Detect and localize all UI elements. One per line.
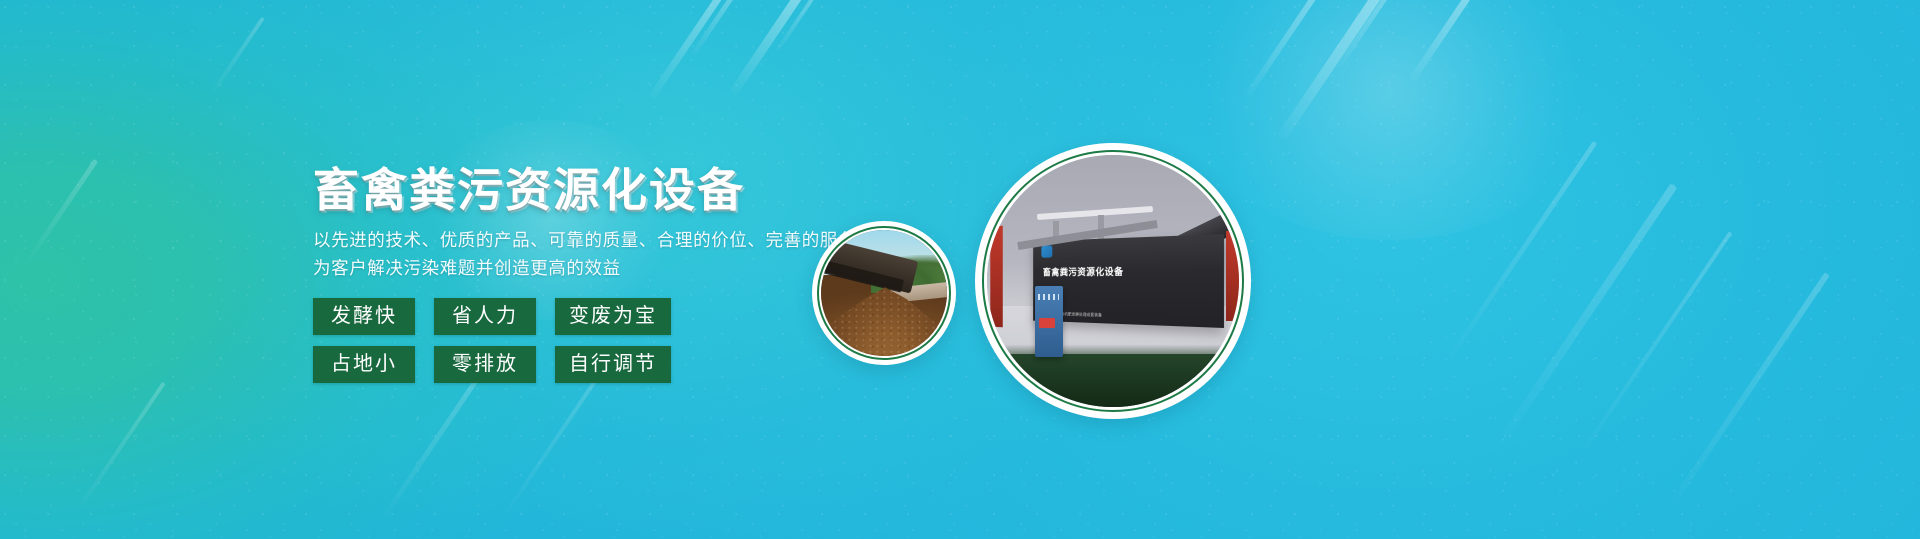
render-machine-sublabel: 环保型高效有机肥发酵处理成套装备: [1043, 311, 1206, 322]
feature-tag-small-footprint[interactable]: 占地小: [313, 346, 415, 383]
streak-1: [649, 0, 739, 99]
streak-9: [1448, 141, 1598, 359]
render-machine-cap-right: [1226, 231, 1239, 322]
streak-14: [27, 159, 98, 261]
streak-4: [776, 0, 841, 52]
streak-10: [1503, 183, 1677, 436]
background-speckle-texture: [0, 0, 1920, 539]
subtitle-line-2: 为客户解决污染难题并创造更高的效益: [313, 254, 873, 282]
render-machine-cap-left: [990, 225, 1002, 326]
page-title: 畜禽粪污资源化设备: [313, 165, 873, 216]
streak-15: [78, 382, 165, 509]
render-machine-label: 畜禽粪污资源化设备: [1043, 263, 1206, 279]
feature-tag-self-adjusting[interactable]: 自行调节: [555, 346, 671, 383]
streak-2: [691, 0, 762, 56]
streak-11: [1584, 231, 1733, 449]
compost-pile-image: [821, 230, 947, 356]
feature-tag-row-2: 占地小 零排放 自行调节: [313, 346, 873, 383]
background-glow-2: [1180, 0, 1600, 240]
equipment-photo: 畜禽粪污资源化设备 环保型高效有机肥发酵处理成套装备: [987, 155, 1239, 407]
feature-tag-zero-emission[interactable]: 零排放: [434, 346, 536, 383]
render-grass: [987, 354, 1239, 407]
streak-6: [1277, 0, 1397, 141]
feature-tag-waste-to-treasure[interactable]: 变废为宝: [555, 298, 671, 335]
render-control-panel: [1035, 286, 1063, 357]
streak-8: [1409, 0, 1482, 82]
subtitle-line-1: 以先进的技术、优质的产品、可靠的质量、合理的价位、完善的服务: [313, 226, 873, 254]
streak-5: [1245, 0, 1345, 97]
hero-banner: 畜禽粪污资源化设备 以先进的技术、优质的产品、可靠的质量、合理的价位、完善的服务…: [0, 0, 1920, 539]
equipment-render-image: 畜禽粪污资源化设备 环保型高效有机肥发酵处理成套装备: [987, 155, 1239, 407]
feature-tag-group: 发酵快 省人力 变废为宝 占地小 零排放 自行调节: [313, 298, 873, 383]
feature-tag-fast-fermentation[interactable]: 发酵快: [313, 298, 415, 335]
streak-3: [729, 0, 812, 96]
feature-tag-row-1: 发酵快 省人力 变废为宝: [313, 298, 873, 335]
banner-copy-block: 畜禽粪污资源化设备 以先进的技术、优质的产品、可靠的质量、合理的价位、完善的服务…: [313, 165, 873, 394]
streak-7: [1336, 0, 1424, 69]
background-light-streaks: [0, 0, 1920, 539]
equipment-photo-circle[interactable]: 畜禽粪污资源化设备 环保型高效有机肥发酵处理成套装备: [975, 143, 1251, 419]
streak-13: [211, 17, 265, 94]
banner-subtitle: 以先进的技术、优质的产品、可靠的质量、合理的价位、完善的服务 为客户解决污染难题…: [313, 226, 873, 283]
streak-12: [1668, 272, 1830, 507]
compost-photo: [821, 230, 947, 356]
render-brand-logo-icon: [1042, 246, 1053, 258]
render-panel-button: [1039, 318, 1056, 327]
feature-tag-labor-saving[interactable]: 省人力: [434, 298, 536, 335]
compost-photo-circle[interactable]: [812, 221, 956, 365]
render-panel-indicators: [1038, 294, 1059, 300]
streak-16: [383, 373, 482, 517]
